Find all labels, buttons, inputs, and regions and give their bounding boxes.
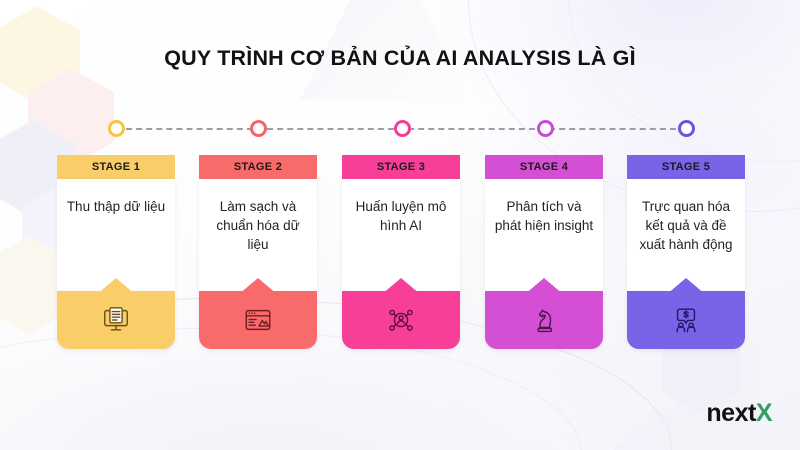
brand-accent-letter: X	[756, 399, 772, 427]
timeline-node-stage-3	[394, 120, 411, 137]
stage-card-3[interactable]: STAGE 3Huấn luyện mô hình AI	[342, 155, 460, 349]
monitor-document-icon	[101, 305, 131, 335]
stage-card-5[interactable]: STAGE 5Trực quan hóa kết quả và đề xuất …	[627, 155, 745, 349]
stage-card-icon-panel-1	[57, 291, 175, 349]
stage-card-text-5: Trực quan hóa kết quả và đề xuất hành độ…	[627, 179, 745, 291]
infographic-canvas: QUY TRÌNH CƠ BẢN CỦA AI ANALYSIS LÀ GÌ S…	[0, 0, 800, 450]
page-title: QUY TRÌNH CƠ BẢN CỦA AI ANALYSIS LÀ GÌ	[0, 46, 800, 71]
stage-card-header-1: STAGE 1	[57, 155, 175, 179]
browser-window-image-icon	[243, 305, 273, 335]
timeline-node-stage-5	[678, 120, 695, 137]
stage-card-text-3: Huấn luyện mô hình AI	[342, 179, 460, 291]
stage-card-header-4: STAGE 4	[485, 155, 603, 179]
background-shard	[560, 340, 760, 450]
stage-card-header-5: STAGE 5	[627, 155, 745, 179]
stage-card-header-3: STAGE 3	[342, 155, 460, 179]
stage-card-4[interactable]: STAGE 4Phân tích và phát hiện insight	[485, 155, 603, 349]
network-person-node-icon	[386, 305, 416, 335]
stage-card-1[interactable]: STAGE 1Thu thập dữ liệu	[57, 155, 175, 349]
brand-logo: nextX	[706, 399, 772, 428]
stage-card-2[interactable]: STAGE 2Làm sạch và chuẩn hóa dữ liệu	[199, 155, 317, 349]
background-hexagon	[28, 68, 114, 166]
brand-name: next	[706, 399, 755, 427]
stage-card-header-2: STAGE 2	[199, 155, 317, 179]
background-wave	[568, 0, 800, 162]
stage-card-icon-panel-3	[342, 291, 460, 349]
stage-card-text-1: Thu thập dữ liệu	[57, 179, 175, 291]
chess-knight-icon	[529, 305, 559, 335]
timeline-node-stage-1	[108, 120, 125, 137]
stage-card-text-4: Phân tích và phát hiện insight	[485, 179, 603, 291]
timeline-node-stage-2	[250, 120, 267, 137]
stage-card-icon-panel-5	[627, 291, 745, 349]
people-speech-dollar-icon	[671, 305, 701, 335]
stage-card-icon-panel-4	[485, 291, 603, 349]
timeline-node-stage-4	[537, 120, 554, 137]
stage-card-icon-panel-2	[199, 291, 317, 349]
stage-card-text-2: Làm sạch và chuẩn hóa dữ liệu	[199, 179, 317, 291]
